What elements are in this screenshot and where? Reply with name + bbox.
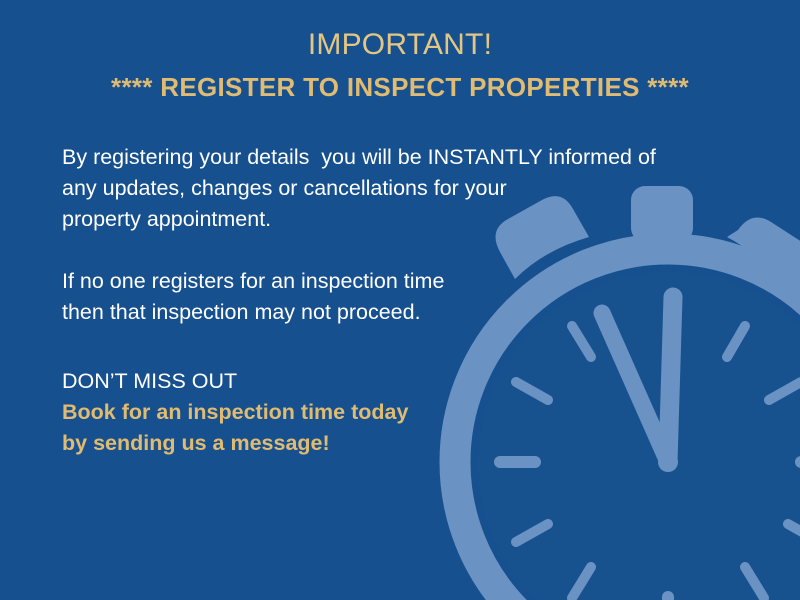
body-paragraph-registering: By registering your details you will be … — [62, 142, 722, 235]
cta-book-inspection: Book for an inspection time today — [62, 397, 622, 428]
cta-send-message: by sending us a message! — [62, 428, 622, 459]
headline-important: IMPORTANT! — [0, 26, 800, 64]
body-paragraph-no-registrations: If no one registers for an inspection ti… — [62, 266, 722, 328]
paragraph-spacer — [62, 235, 722, 266]
call-to-action-block: DON’T MISS OUT Book for an inspection ti… — [62, 366, 622, 459]
content-layer: IMPORTANT! **** REGISTER TO INSPECT PROP… — [0, 0, 800, 600]
headline-register: **** REGISTER TO INSPECT PROPERTIES **** — [0, 68, 800, 106]
cta-dont-miss-out: DON’T MISS OUT — [62, 366, 622, 397]
body-block: By registering your details you will be … — [62, 142, 722, 328]
promotional-slide: IMPORTANT! **** REGISTER TO INSPECT PROP… — [0, 0, 800, 600]
headline-block: IMPORTANT! **** REGISTER TO INSPECT PROP… — [0, 26, 800, 106]
